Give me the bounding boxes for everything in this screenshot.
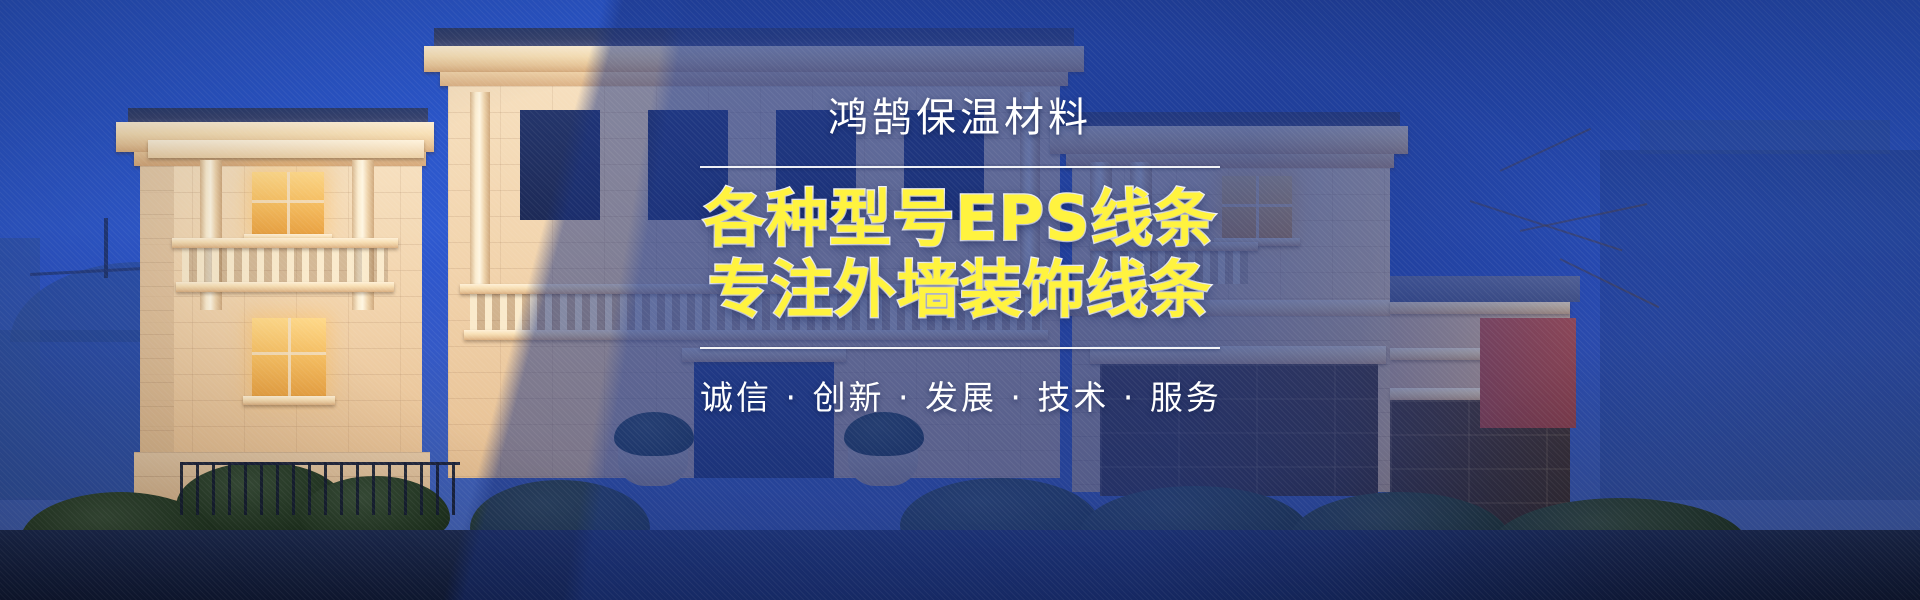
banner-text-block: 鸿鹄保温材料 各种型号EPS线条 专注外墙装饰线条 诚信 · 创新 · 发展 ·…	[700, 96, 1220, 419]
divider-top	[700, 166, 1220, 168]
headline-line-2: 专注外墙装饰线条	[700, 255, 1220, 326]
brand-name: 鸿鹄保温材料	[700, 96, 1220, 140]
divider-bottom	[700, 347, 1220, 349]
headline-line-1: 各种型号EPS线条	[700, 184, 1220, 255]
tagline: 诚信 · 创新 · 发展 · 技术 · 服务	[700, 371, 1220, 419]
hero-banner: 鸿鹄保温材料 各种型号EPS线条 专注外墙装饰线条 诚信 · 创新 · 发展 ·…	[0, 0, 1920, 600]
headline: 各种型号EPS线条 专注外墙装饰线条	[700, 184, 1220, 325]
